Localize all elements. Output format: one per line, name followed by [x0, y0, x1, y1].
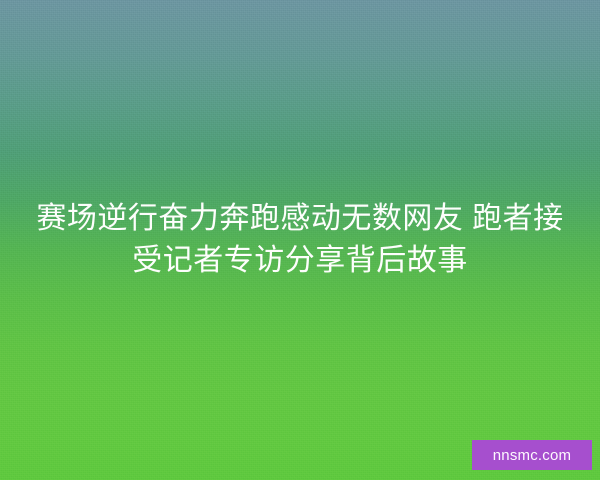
- image-card: 赛场逆行奋力奔跑感动无数网友 跑者接受记者专访分享背后故事 nnsmc.com: [0, 0, 600, 480]
- watermark-label: nnsmc.com: [493, 448, 572, 463]
- watermark-badge[interactable]: nnsmc.com: [472, 440, 592, 470]
- headline-text: 赛场逆行奋力奔跑感动无数网友 跑者接受记者专访分享背后故事: [0, 198, 600, 282]
